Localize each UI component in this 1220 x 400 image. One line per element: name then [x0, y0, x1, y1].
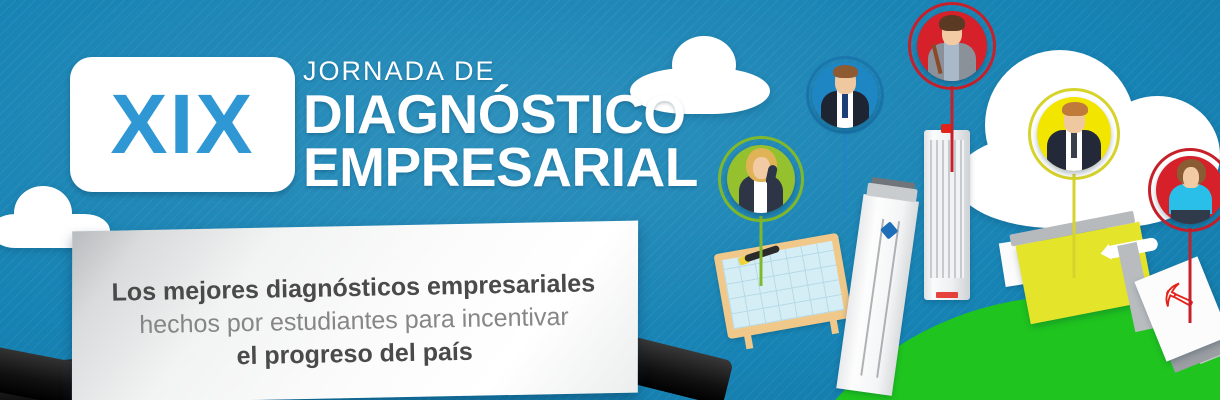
avatar: [1037, 97, 1111, 171]
avatar-pin-green[interactable]: [718, 136, 804, 286]
avatar-pin-yellow[interactable]: [1028, 88, 1120, 278]
event-banner: ⛏: [0, 0, 1220, 400]
avatar-pin-blue[interactable]: [806, 56, 884, 216]
headline-kicker: JORNADA DE: [303, 58, 698, 85]
ribbon-line-2: hechos por estudiantes para incentivar: [139, 300, 569, 341]
avatar: [917, 11, 987, 81]
ribbon-text-block: Los mejores diagnósticos empresariales h…: [72, 231, 635, 400]
avatar: [1156, 156, 1220, 224]
ribbon-line-3: el progreso del país: [236, 335, 473, 373]
headline-line-2: EMPRESARIAL: [303, 142, 698, 193]
avatar: [812, 62, 878, 128]
edition-logo-card: XIX: [70, 57, 295, 192]
tower-base-accent: [936, 292, 958, 298]
avatar-pin-red-top[interactable]: [908, 2, 996, 172]
headline-line-1: DIAGNÓSTICO: [303, 89, 698, 140]
avatar: [727, 145, 795, 213]
roman-numeral-xix: XIX: [68, 57, 298, 192]
avatar-pin-red-right[interactable]: [1148, 148, 1220, 323]
ribbon: Los mejores diagnósticos empresariales h…: [0, 226, 700, 400]
headline-block: JORNADA DE DIAGNÓSTICO EMPRESARIAL: [303, 58, 698, 192]
